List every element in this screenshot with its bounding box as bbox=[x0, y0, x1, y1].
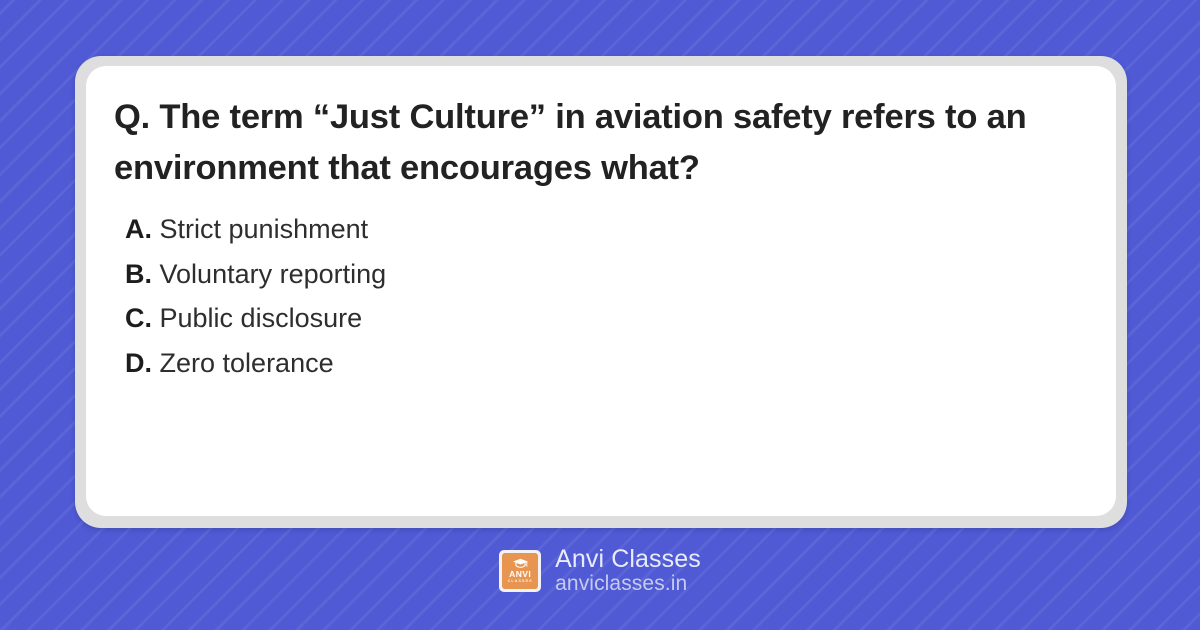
quiz-card: Q. The term “Just Culture” in aviation s… bbox=[86, 66, 1116, 516]
brand-logo: ANVI CLASSES bbox=[499, 550, 541, 592]
question-text: Q. The term “Just Culture” in aviation s… bbox=[114, 92, 1088, 193]
option-letter-b: B. bbox=[125, 259, 152, 289]
brand-footer: ANVI CLASSES Anvi Classes anviclasses.in bbox=[0, 546, 1200, 596]
option-text-b: Voluntary reporting bbox=[160, 259, 387, 289]
brand-name: Anvi Classes bbox=[555, 546, 701, 573]
brand-logo-word: ANVI bbox=[509, 570, 531, 579]
brand-url: anviclasses.in bbox=[555, 573, 701, 596]
option-letter-a: A. bbox=[125, 214, 152, 244]
option-letter-c: C. bbox=[125, 303, 152, 333]
graduation-cap-icon bbox=[512, 558, 529, 569]
brand-text-block: Anvi Classes anviclasses.in bbox=[555, 546, 701, 596]
answer-option-d[interactable]: D. Zero tolerance bbox=[114, 341, 1088, 386]
option-text-c: Public disclosure bbox=[160, 303, 363, 333]
option-text-d: Zero tolerance bbox=[160, 348, 334, 378]
answer-option-b[interactable]: B. Voluntary reporting bbox=[114, 252, 1088, 297]
answer-options-list: A. Strict punishment B. Voluntary report… bbox=[114, 207, 1088, 385]
option-text-a: Strict punishment bbox=[160, 214, 369, 244]
brand-logo-tile: ANVI CLASSES bbox=[502, 553, 538, 589]
brand-logo-subword: CLASSES bbox=[508, 580, 533, 584]
answer-option-a[interactable]: A. Strict punishment bbox=[114, 207, 1088, 252]
answer-option-c[interactable]: C. Public disclosure bbox=[114, 296, 1088, 341]
option-letter-d: D. bbox=[125, 348, 152, 378]
